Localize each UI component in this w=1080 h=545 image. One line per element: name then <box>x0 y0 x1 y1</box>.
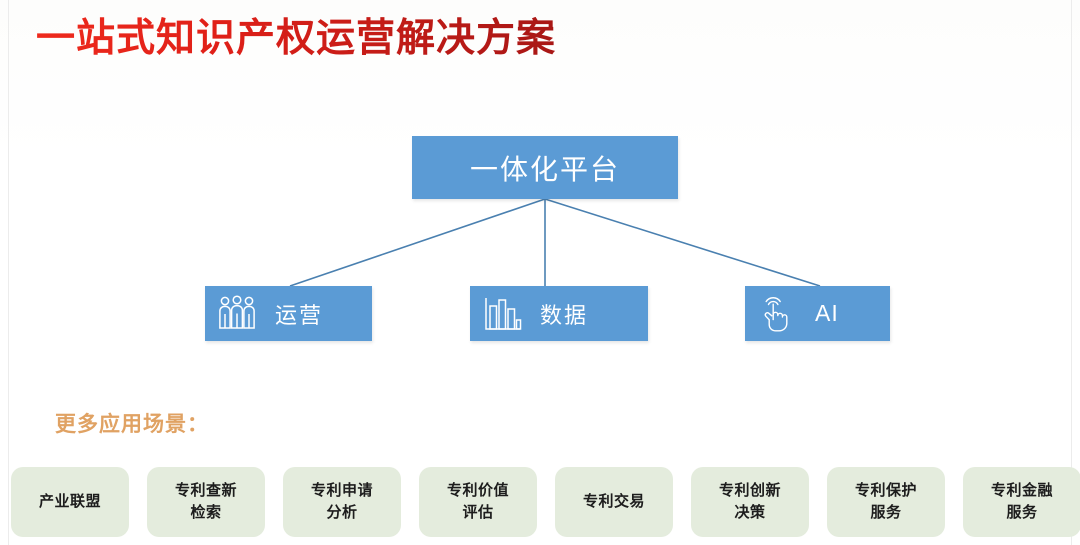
three-people-icon <box>215 292 259 336</box>
bar-chart-icon <box>480 292 524 336</box>
node-operations[interactable]: 运营 <box>205 286 372 341</box>
node-ai-label: AI <box>815 300 839 327</box>
scenario-tag[interactable]: 专利保护 服务 <box>827 467 945 537</box>
scenario-tag[interactable]: 专利价值 评估 <box>419 467 537 537</box>
node-operations-label: 运营 <box>275 298 323 330</box>
scenario-tag[interactable]: 产业联盟 <box>11 467 129 537</box>
scenario-tag-list: 产业联盟 专利查新 检索 专利申请 分析 专利价值 评估 专利交易 专利创新 决… <box>11 467 1080 537</box>
node-data-label: 数据 <box>540 298 588 330</box>
connector-to-operations <box>290 199 545 286</box>
node-platform-label: 一体化平台 <box>470 148 620 188</box>
scenario-tag[interactable]: 专利申请 分析 <box>283 467 401 537</box>
node-ai[interactable]: AI <box>745 286 890 341</box>
connector-lines <box>0 0 1080 545</box>
touch-hand-icon <box>755 292 799 336</box>
platform-architecture-diagram: 一体化平台 运营 数据 <box>0 0 1080 545</box>
node-data[interactable]: 数据 <box>470 286 648 341</box>
slide-canvas: 一站式知识产权运营解决方案 一体化平台 运营 <box>0 0 1080 545</box>
connector-to-ai <box>545 199 820 286</box>
more-scenarios-label: 更多应用场景： <box>55 408 209 438</box>
node-platform[interactable]: 一体化平台 <box>412 136 678 199</box>
scenario-tag[interactable]: 专利查新 检索 <box>147 467 265 537</box>
scenario-tag[interactable]: 专利交易 <box>555 467 673 537</box>
scenario-tag[interactable]: 专利金融 服务 <box>963 467 1080 537</box>
scenario-tag[interactable]: 专利创新 决策 <box>691 467 809 537</box>
